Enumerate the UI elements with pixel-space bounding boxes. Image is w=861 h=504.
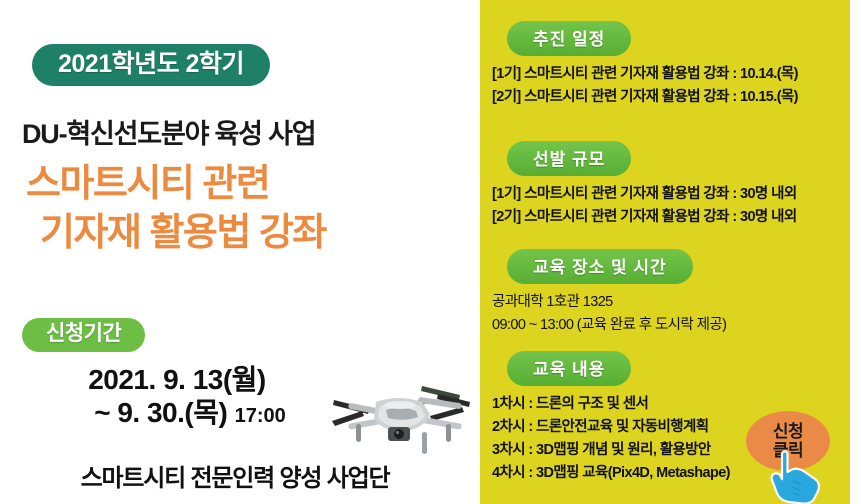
place-line-1: 공과대학 1호관 1325 <box>492 291 850 314</box>
main-title-line-1: 스마트시티 관련 <box>26 163 269 205</box>
period-start-date: 2021. 9. 13(월) <box>12 363 342 396</box>
apply-button-line-1: 신청 <box>773 422 803 441</box>
schedule-line-1: [1기] 스마트시티 관련 기자재 활용법 강좌 : 10.14.(목) <box>492 63 850 86</box>
right-white-margin <box>850 0 861 504</box>
apply-period-badge: 신청기간 <box>22 318 145 352</box>
section-heading-schedule: 추진 일정 <box>507 21 631 56</box>
section-selection-scale: 선발 규모 [1기] 스마트시티 관련 기자재 활용법 강좌 : 30명 내외 … <box>480 141 850 230</box>
section-heading-selection-scale: 선발 규모 <box>507 141 631 176</box>
scale-line-2: [2기] 스마트시티 관련 기자재 활용법 강좌 : 30명 내외 <box>492 206 850 229</box>
poster-root: 2021학년도 2학기 DU-혁신선도분야 육성 사업 스마트시티 관련 기자재… <box>0 0 861 504</box>
main-title-line-2: 기자재 활용법 강좌 <box>40 209 326 258</box>
section-place-and-time: 교육 장소 및 시간 공과대학 1호관 1325 09:00 ~ 13:00 (… <box>480 249 850 337</box>
apply-period-dates: 2021. 9. 13(월) ~ 9. 30.(목) 17:00 <box>12 363 342 429</box>
main-title: 스마트시티 관련 기자재 활용법 강좌 <box>26 160 326 257</box>
section-schedule: 추진 일정 [1기] 스마트시티 관련 기자재 활용법 강좌 : 10.14.(… <box>480 21 850 110</box>
place-line-2: 09:00 ~ 13:00 (교육 완료 후 도시락 제공) <box>492 314 850 337</box>
section-heading-place-and-time: 교육 장소 및 시간 <box>507 249 693 284</box>
schedule-line-2: [2기] 스마트시티 관련 기자재 활용법 강좌 : 10.15.(목) <box>492 86 850 109</box>
period-end-date: ~ 9. 30.(목) 17:00 <box>12 396 342 429</box>
left-panel: 2021학년도 2학기 DU-혁신선도분야 육성 사업 스마트시티 관련 기자재… <box>0 0 480 504</box>
year-badge: 2021학년도 2학기 <box>32 44 270 86</box>
section-body-place-and-time: 공과대학 1호관 1325 09:00 ~ 13:00 (교육 완료 후 도시락… <box>492 291 850 337</box>
scale-line-1: [1기] 스마트시티 관련 기자재 활용법 강좌 : 30명 내외 <box>492 183 850 206</box>
section-body-selection-scale: [1기] 스마트시티 관련 기자재 활용법 강좌 : 30명 내외 [2기] 스… <box>492 183 850 230</box>
program-subtitle: DU-혁신선도분야 육성 사업 <box>22 112 315 151</box>
pointing-hand-icon <box>768 448 830 504</box>
drone-illustration <box>326 376 476 460</box>
period-end-time: 17:00 <box>235 405 286 427</box>
period-end-date-text: ~ 9. 30.(목) <box>94 397 227 428</box>
section-body-schedule: [1기] 스마트시티 관련 기자재 활용법 강좌 : 10.14.(목) [2기… <box>492 63 850 110</box>
organization-name: 스마트시티 전문인력 양성 사업단 <box>0 458 470 493</box>
section-heading-curriculum: 교육 내용 <box>507 351 631 386</box>
